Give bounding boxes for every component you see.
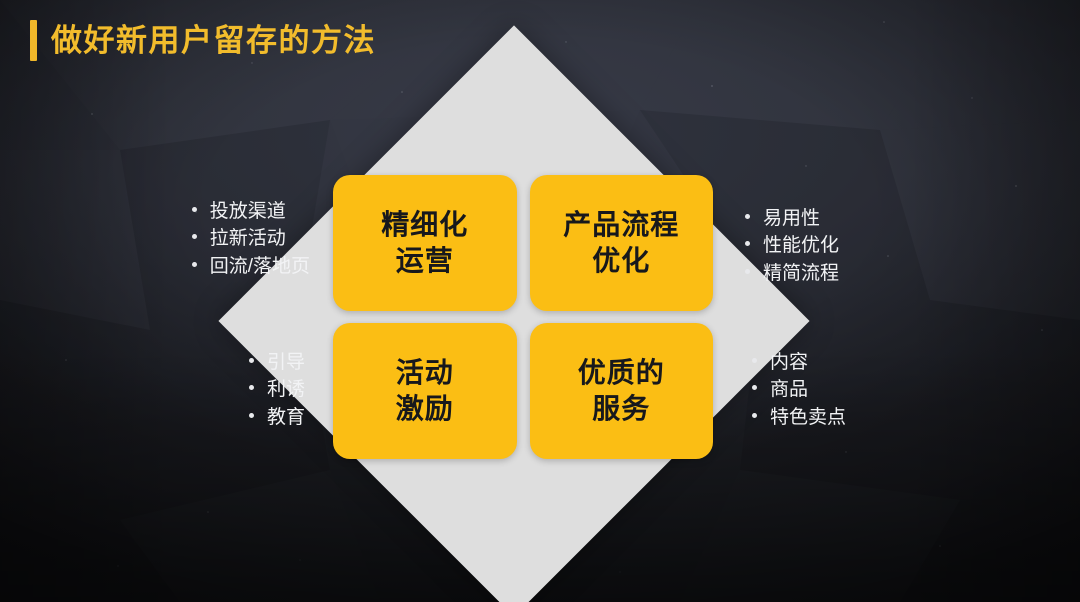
list-item-label: 易用性 bbox=[763, 205, 820, 232]
card-line-1: 优质的 bbox=[578, 355, 665, 391]
bullet-list-bottom-left: 引导 利诱 教育 bbox=[249, 349, 305, 431]
list-item-label: 引导 bbox=[267, 349, 305, 376]
list-item-label: 性能优化 bbox=[763, 232, 839, 259]
list-item: 拉新活动 bbox=[192, 225, 310, 252]
card-product-flow[interactable]: 产品流程 优化 bbox=[530, 175, 714, 311]
slide-title-row: 做好新用户留存的方法 bbox=[30, 20, 376, 61]
bullet-list-top-right: 易用性 性能优化 精简流程 bbox=[745, 205, 839, 287]
list-item-label: 利诱 bbox=[267, 376, 305, 403]
list-item-label: 教育 bbox=[267, 404, 305, 431]
card-grid: 精细化 运营 产品流程 优化 活动 激励 优质的 服务 bbox=[333, 175, 713, 459]
bullet-dot-icon bbox=[745, 269, 750, 274]
bullet-dot-icon bbox=[192, 262, 197, 267]
bullet-dot-icon bbox=[249, 358, 254, 363]
card-line-1: 活动 bbox=[396, 355, 454, 391]
list-item-label: 内容 bbox=[770, 349, 808, 376]
card-line-2: 服务 bbox=[592, 391, 650, 427]
bullet-dot-icon bbox=[249, 385, 254, 390]
list-item: 特色卖点 bbox=[752, 404, 846, 431]
list-item: 精简流程 bbox=[745, 260, 839, 287]
title-accent-bar bbox=[30, 20, 37, 61]
list-item-label: 投放渠道 bbox=[210, 198, 286, 225]
list-item: 引导 bbox=[249, 349, 305, 376]
bullet-dot-icon bbox=[752, 385, 757, 390]
list-item: 投放渠道 bbox=[192, 198, 310, 225]
list-item-label: 拉新活动 bbox=[210, 225, 286, 252]
list-item-label: 特色卖点 bbox=[770, 404, 846, 431]
bullet-dot-icon bbox=[745, 214, 750, 219]
card-line-2: 激励 bbox=[396, 391, 454, 427]
bullet-dot-icon bbox=[192, 207, 197, 212]
card-quality-service[interactable]: 优质的 服务 bbox=[530, 323, 714, 459]
list-item: 利诱 bbox=[249, 376, 305, 403]
bullet-dot-icon bbox=[745, 241, 750, 246]
card-line-2: 运营 bbox=[396, 243, 454, 279]
bullet-list-bottom-right: 内容 商品 特色卖点 bbox=[752, 349, 846, 431]
list-item-label: 商品 bbox=[770, 376, 808, 403]
bullet-dot-icon bbox=[752, 358, 757, 363]
page-title: 做好新用户留存的方法 bbox=[51, 25, 376, 56]
card-line-2: 优化 bbox=[592, 243, 650, 279]
bullet-dot-icon bbox=[752, 413, 757, 418]
list-item-label: 回流/落地页 bbox=[210, 253, 310, 280]
card-line-1: 精细化 bbox=[381, 207, 468, 243]
bullet-dot-icon bbox=[249, 413, 254, 418]
list-item-label: 精简流程 bbox=[763, 260, 839, 287]
card-activity-incentive[interactable]: 活动 激励 bbox=[333, 323, 517, 459]
list-item: 内容 bbox=[752, 349, 846, 376]
card-refined-operation[interactable]: 精细化 运营 bbox=[333, 175, 517, 311]
slide-canvas: 做好新用户留存的方法 精细化 运营 产品流程 优化 活动 激励 优质的 服务 投… bbox=[0, 0, 1080, 602]
bullet-dot-icon bbox=[192, 234, 197, 239]
list-item: 回流/落地页 bbox=[192, 253, 310, 280]
list-item: 教育 bbox=[249, 404, 305, 431]
card-line-1: 产品流程 bbox=[563, 207, 679, 243]
bullet-list-top-left: 投放渠道 拉新活动 回流/落地页 bbox=[192, 198, 310, 280]
list-item: 商品 bbox=[752, 376, 846, 403]
list-item: 性能优化 bbox=[745, 232, 839, 259]
list-item: 易用性 bbox=[745, 205, 839, 232]
